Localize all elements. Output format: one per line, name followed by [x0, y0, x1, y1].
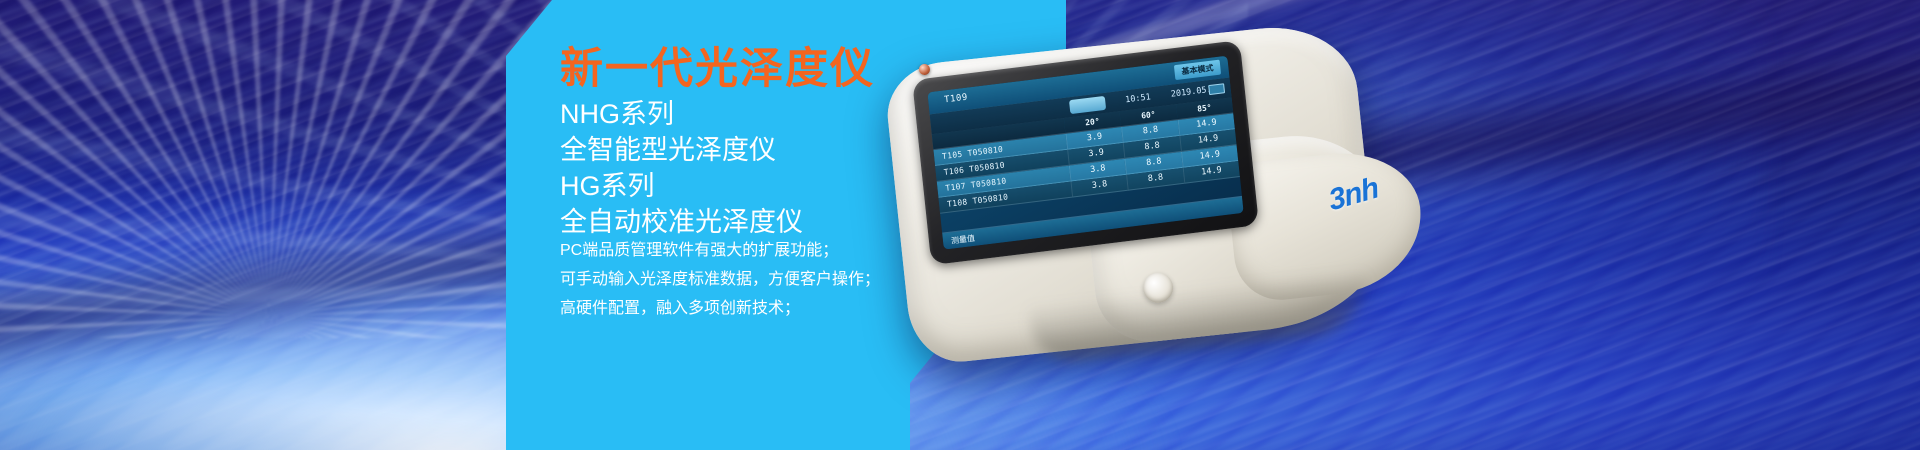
- banner-headline: 新一代光泽度仪: [560, 48, 875, 91]
- feature-bullet: 可手动输入光泽度标准数据，方便客户操作；: [560, 265, 880, 294]
- device-lcd: T109 基本模式 10:51 2019.05.08 T105 T050810 …: [927, 56, 1243, 250]
- product-banner: 新一代光泽度仪 NHG系列 全智能型光泽度仪 HG系列 全自动校准光泽度仪 PC…: [0, 0, 1920, 450]
- feature-bullet: 高硬件配置，融入多项创新技术；: [560, 294, 880, 323]
- model-line: NHG系列: [560, 96, 803, 132]
- feature-bullet-list: PC端品质管理软件有强大的扩展功能； 可手动输入光泽度标准数据，方便客户操作； …: [560, 236, 880, 323]
- battery-icon: [1208, 83, 1225, 95]
- model-line: HG系列: [560, 168, 803, 204]
- product-model-list: NHG系列 全智能型光泽度仪 HG系列 全自动校准光泽度仪: [560, 96, 803, 240]
- feature-bullet: PC端品质管理软件有强大的扩展功能；: [560, 236, 880, 265]
- model-line: 全智能型光泽度仪: [560, 132, 803, 168]
- device-body: 3nh T109 基本模式 10:51 2019.05.08 T105 T050…: [881, 0, 1520, 448]
- lcd-footer-label: 测量值: [950, 233, 975, 247]
- gloss-meter-device: 3nh T109 基本模式 10:51 2019.05.08 T105 T050…: [880, 10, 1520, 440]
- model-line: 全自动校准光泽度仪: [560, 204, 803, 240]
